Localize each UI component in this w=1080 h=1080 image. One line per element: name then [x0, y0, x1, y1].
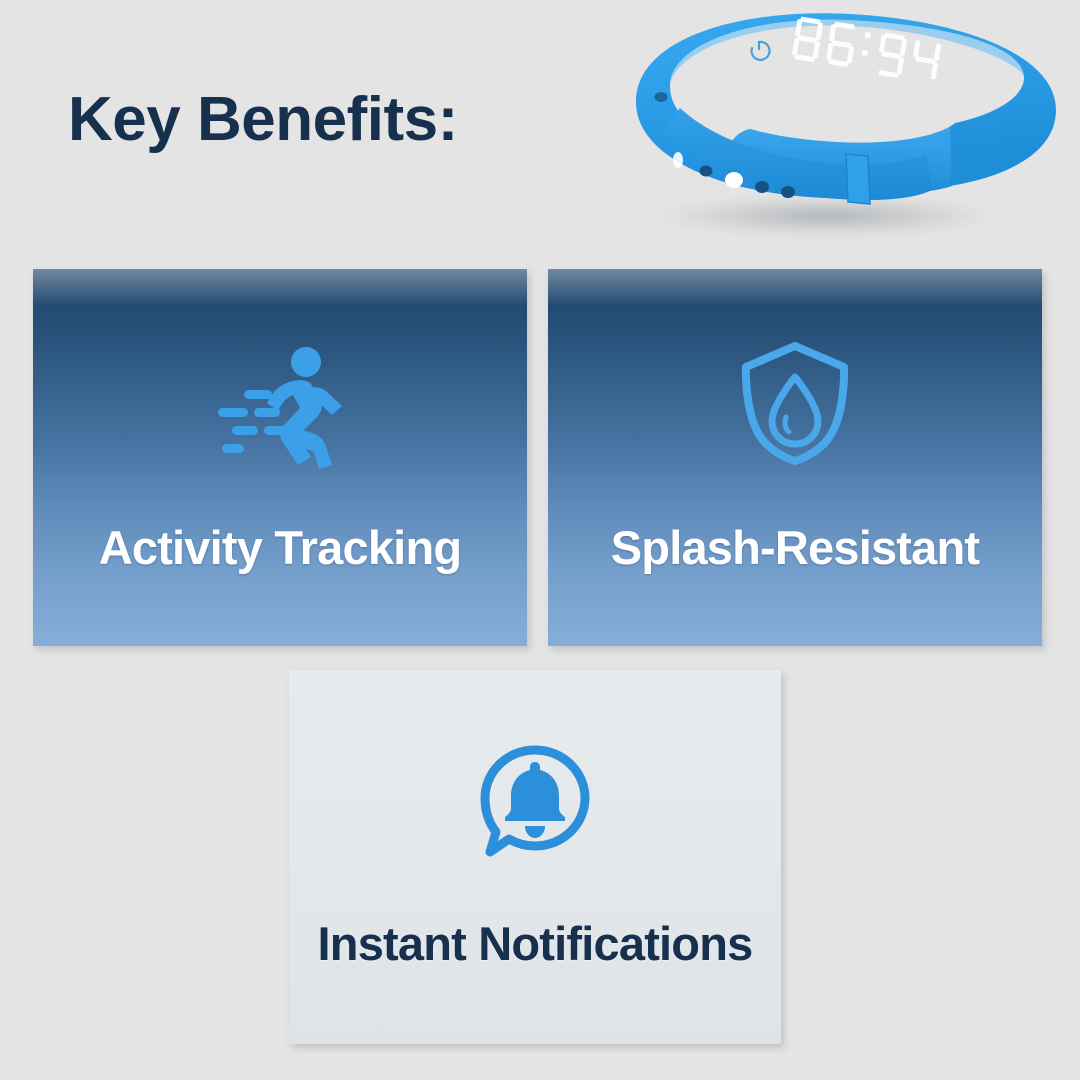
card-label-instant-notifications: Instant Notifications [289, 916, 781, 971]
bell-chat-bubble-icon [474, 740, 596, 864]
card-label-splash-resistant: Splash-Resistant [548, 520, 1042, 575]
card-icon-wrap [289, 732, 781, 872]
benefit-card-splash-resistant[interactable]: Splash-Resistant [548, 269, 1042, 646]
benefit-card-instant-notifications[interactable]: Instant Notifications [289, 670, 781, 1044]
fitness-band-illustration [620, 4, 1070, 248]
active-hole [725, 172, 743, 188]
card-icon-wrap [548, 335, 1042, 471]
bell-glyph [505, 762, 565, 838]
led-colon [862, 32, 871, 56]
benefit-card-activity-tracking[interactable]: Activity Tracking [33, 269, 527, 646]
product-hero-image [620, 4, 1070, 248]
band-inner-opening [706, 57, 964, 142]
shield-water-drop-icon [734, 339, 856, 467]
page-root: Key Benefits: [0, 0, 1080, 1080]
card-icon-wrap [33, 341, 527, 473]
page-title: Key Benefits: [68, 89, 458, 151]
running-person-icon [214, 345, 346, 469]
band-buckle-keeper [846, 154, 870, 204]
card-label-activity-tracking: Activity Tracking [33, 520, 527, 575]
power-icon [752, 42, 770, 60]
